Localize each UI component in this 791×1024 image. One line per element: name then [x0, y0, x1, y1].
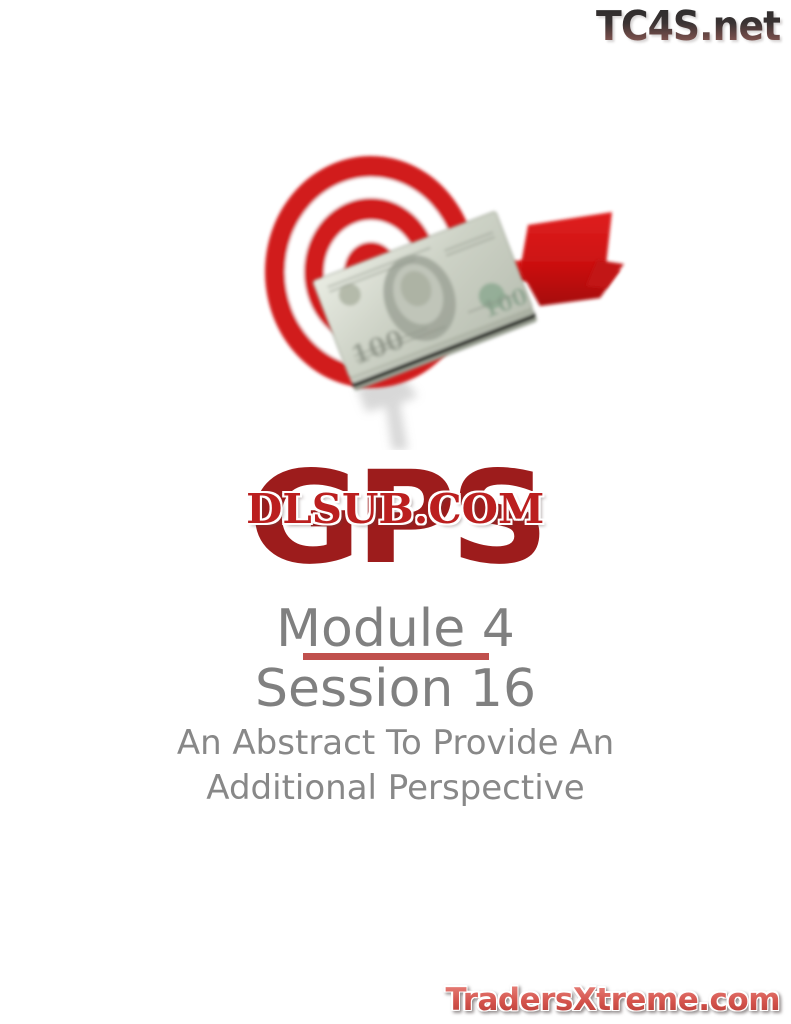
gps-logo-text: GPS: [248, 455, 543, 583]
session-title: Session 16: [0, 660, 791, 718]
header-brand-tc4s: TC4S.net: [596, 4, 780, 49]
gps-logo: GPS: [0, 455, 791, 590]
footer-brand-tradersxtreme: TradersXtreme.com: [445, 983, 780, 1017]
target-dart-money-illustration: 100 100: [0, 120, 791, 450]
title-block: Module 4 Session 16 An Abstract To Provi…: [0, 600, 791, 808]
hero-graphic: 100 100: [0, 120, 791, 450]
subtitle-line-2: Additional Perspective: [0, 768, 791, 808]
subtitle-line-1: An Abstract To Provide An: [0, 723, 791, 763]
slide-page: TC4S.net TC4S.net: [0, 0, 791, 1024]
module-title: Module 4: [0, 600, 791, 658]
